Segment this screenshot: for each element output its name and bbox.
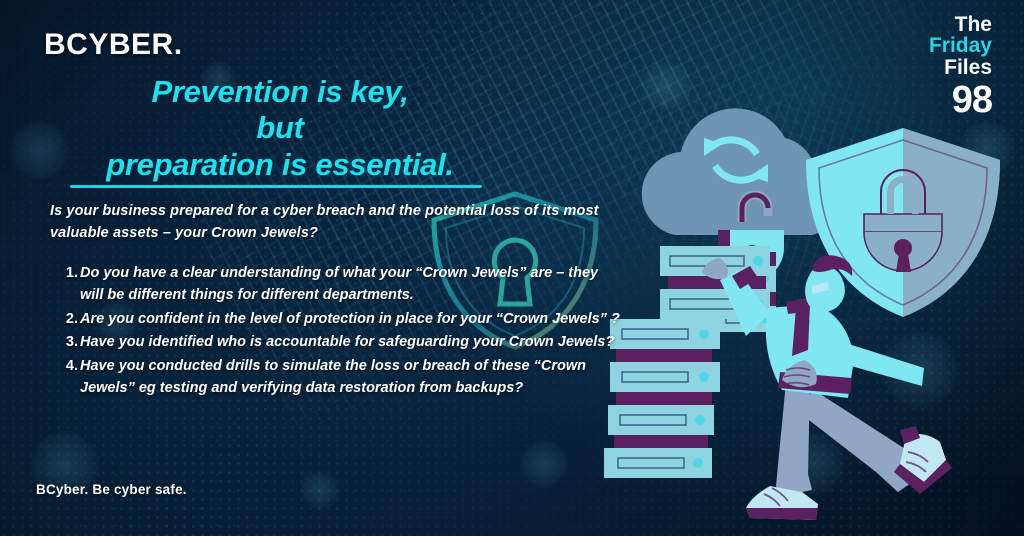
list-item-text: Have you conducted drills to simulate th… — [80, 355, 622, 400]
headline-line-2: but — [70, 110, 490, 146]
bokeh-dot — [520, 440, 568, 488]
logo-text: BCYBER — [44, 28, 174, 61]
subheading-question: Is your business prepared for a cyber br… — [50, 200, 624, 245]
friday-files-badge: The Friday Files 98 — [929, 14, 992, 120]
badge-line-friday: Friday — [929, 35, 992, 56]
badge-issue-number: 98 — [929, 81, 992, 120]
list-item-text: Are you confident in the level of protec… — [80, 308, 622, 330]
list-item: 3.Have you identified who is accountable… — [60, 331, 622, 353]
poster-canvas: BCYBER. The Friday Files 98 Prevention i… — [0, 0, 1024, 536]
bokeh-dot — [300, 470, 340, 510]
hero-illustration — [600, 90, 1024, 536]
list-item-number: 3. — [60, 331, 78, 353]
list-item: 4.Have you conducted drills to simulate … — [60, 355, 622, 400]
list-item: 2.Are you confident in the level of prot… — [60, 308, 622, 330]
list-item: 1.Do you have a clear understanding of w… — [60, 262, 622, 307]
headline: Prevention is key, but preparation is es… — [70, 74, 490, 183]
bcyber-logo[interactable]: BCYBER. — [44, 28, 183, 62]
logo-dot: . — [174, 28, 183, 61]
list-item-text: Have you identified who is accountable f… — [80, 331, 622, 353]
headline-line-3: preparation is essential. — [70, 147, 490, 183]
badge-line-the: The — [929, 14, 992, 35]
bokeh-dot — [10, 120, 70, 180]
badge-line-files: Files — [929, 57, 992, 78]
headline-divider — [70, 185, 482, 188]
headline-line-1: Prevention is key, — [70, 74, 490, 110]
list-item-number: 1. — [60, 262, 78, 284]
list-item-number: 2. — [60, 308, 78, 330]
question-list: 1.Do you have a clear understanding of w… — [60, 262, 622, 401]
list-item-text: Do you have a clear understanding of wha… — [80, 262, 622, 307]
footer-tagline: BCyber. Be cyber safe. — [36, 482, 187, 497]
list-item-number: 4. — [60, 355, 78, 377]
